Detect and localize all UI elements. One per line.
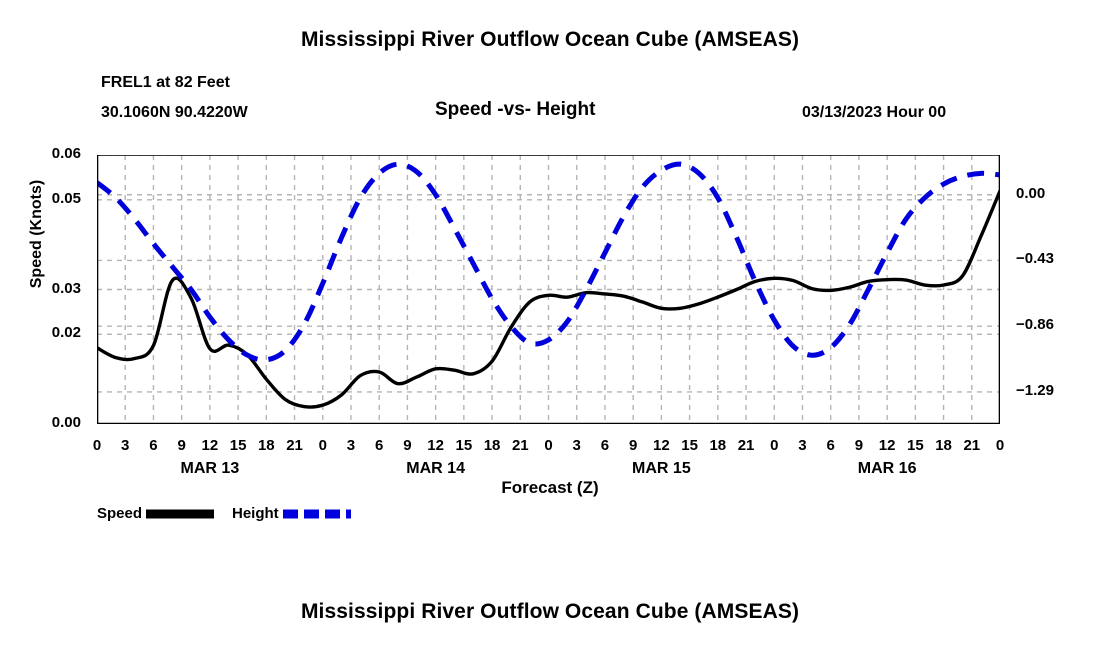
y-axis-left-tick-label: 0.00 (21, 414, 81, 431)
y-axis-left-tick-label: 0.02 (21, 324, 81, 341)
y-axis-right-tick-label: −0.86 (1016, 316, 1086, 333)
page-title-bottom: Mississippi River Outflow Ocean Cube (AM… (0, 600, 1100, 624)
x-axis-day-label: MAR 16 (827, 460, 947, 478)
y-axis-right-tick-label: 0.00 (1016, 185, 1086, 202)
x-axis-day-label: MAR 13 (150, 460, 270, 478)
legend-swatch-height (281, 507, 353, 521)
y-axis-right-tick-label: −0.43 (1016, 250, 1086, 267)
legend-label: Height (232, 505, 279, 522)
chart-page: Mississippi River Outflow Ocean Cube (AM… (0, 0, 1100, 650)
legend-swatch-speed (144, 507, 216, 521)
y-axis-right-tick-label: −1.29 (1016, 382, 1086, 399)
x-axis-day-label: MAR 15 (601, 460, 721, 478)
y-axis-left-tick-label: 0.06 (21, 145, 81, 162)
legend-label: Speed (97, 505, 142, 522)
y-axis-left-tick-label: 0.03 (21, 280, 81, 297)
axis-tick-layer: 0.060.050.030.020.000.00−0.43−0.86−1.290… (0, 0, 1100, 650)
y-axis-left-tick-label: 0.05 (21, 190, 81, 207)
x-axis-tick-label: 0 (980, 437, 1020, 454)
x-axis-day-label: MAR 14 (376, 460, 496, 478)
legend-item-height: Height (232, 505, 353, 522)
legend-item-speed: Speed (97, 505, 216, 522)
